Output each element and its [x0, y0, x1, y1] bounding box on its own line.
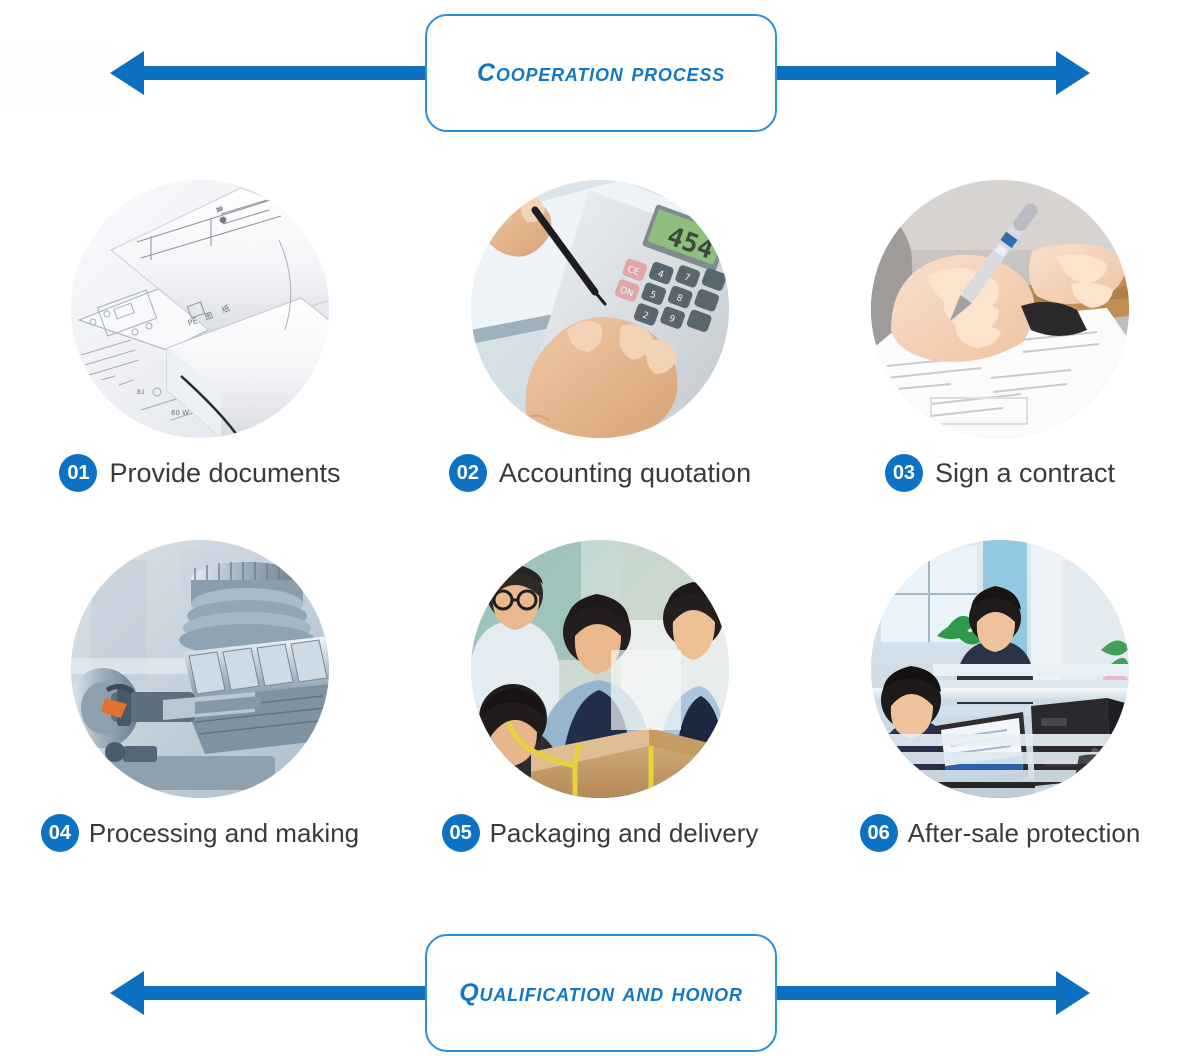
step-thumbnail-calculator: 454	[471, 180, 729, 438]
step-number-badge-06: 06	[860, 814, 898, 852]
arrow-head-right-icon	[1056, 51, 1090, 95]
banner-title-box-top: Cooperation process	[425, 14, 777, 132]
step-label-06: After-sale protection	[908, 820, 1141, 846]
step-label-01: Provide documents	[109, 460, 340, 487]
step-caption-04: 04 Processing and making	[41, 814, 359, 852]
steps-grid: B1 60 W 20 PE 图	[0, 180, 1200, 900]
step-label-05: Packaging and delivery	[490, 820, 759, 846]
step-caption-02: 02 Accounting quotation	[449, 454, 751, 492]
step-caption-03: 03 Sign a contract	[885, 454, 1115, 492]
step-number-badge-04: 04	[41, 814, 79, 852]
step-number-badge-05: 05	[442, 814, 480, 852]
step-label-02: Accounting quotation	[499, 460, 751, 487]
step-thumbnail-blueprints: B1 60 W 20 PE 图	[71, 180, 329, 438]
step-item-03[interactable]: 03 Sign a contract	[800, 180, 1200, 540]
step-caption-06: 06 After-sale protection	[860, 814, 1141, 852]
banner-cooperation-process: Cooperation process	[0, 8, 1200, 138]
step-caption-05: 05 Packaging and delivery	[442, 814, 759, 852]
step-item-05[interactable]: 05 Packaging and delivery	[400, 540, 800, 900]
arrow-head-right-icon-bottom	[1056, 971, 1090, 1015]
svg-text:B1: B1	[137, 389, 145, 396]
cooperation-process-infographic: Cooperation process	[0, 0, 1200, 1056]
arrow-head-left-icon	[110, 51, 144, 95]
step-item-01[interactable]: B1 60 W 20 PE 图	[0, 180, 400, 540]
step-number-badge-01: 01	[59, 454, 97, 492]
banner-title-box-bottom: Qualification and honor	[425, 934, 777, 1052]
step-label-03: Sign a contract	[935, 460, 1115, 487]
step-caption-01: 01 Provide documents	[59, 454, 340, 492]
step-thumbnail-signing-contract	[871, 180, 1129, 438]
step-item-04[interactable]: 04 Processing and making	[0, 540, 400, 900]
step-item-06[interactable]: 06 After-sale protection	[800, 540, 1200, 900]
step-number-badge-03: 03	[885, 454, 923, 492]
banner-title-bottom: Qualification and honor	[459, 979, 742, 1008]
step-thumbnail-cnc-machine	[71, 540, 329, 798]
arrow-head-left-icon-bottom	[110, 971, 144, 1015]
svg-text:60 W: 60 W	[171, 409, 189, 417]
banner-qualification-and-honor: Qualification and honor	[0, 928, 1200, 1056]
step-thumbnail-office-support	[871, 540, 1129, 798]
step-label-04: Processing and making	[89, 820, 359, 846]
step-thumbnail-packaging	[471, 540, 729, 798]
banner-title-top: Cooperation process	[477, 59, 725, 88]
step-item-02[interactable]: 454	[400, 180, 800, 540]
step-number-badge-02: 02	[449, 454, 487, 492]
